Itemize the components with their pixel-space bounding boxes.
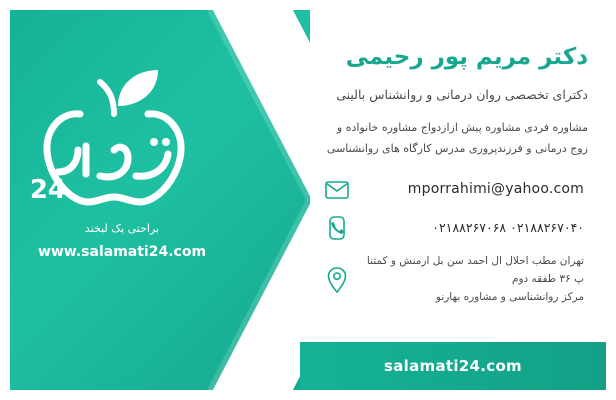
address-line-2: مرکز روانشناسی و مشاوره بهارنو (436, 291, 584, 303)
address-line-1: تهران مطب احلال ال احمد سن بل ارمنش و کم… (367, 255, 584, 285)
logo-tagline: براحتی یک لبخند (22, 222, 222, 235)
contact-content: دکتر مریم پور رحیمی دکترای تخصصی روان در… (310, 10, 606, 342)
doctor-services: مشاوره فردی مشاوره پیش ازازدواج مشاوره خ… (324, 118, 588, 159)
footer-website[interactable]: salamati24.com (384, 357, 522, 375)
business-card: 24 براحتی یک لبخند www.salamati24.com دک… (0, 0, 616, 400)
address-value: تهران مطب احلال ال احمد سن بل ارمنش و کم… (360, 253, 588, 307)
contact-row-phone[interactable]: ۰۲۱۸۸۲۶۷۰۴۰ ۰۲۱۸۸۲۶۷۰۶۸ (324, 215, 588, 241)
location-pin-icon (324, 267, 350, 293)
services-line-1: مشاوره فردی مشاوره پیش ازازدواج مشاوره خ… (324, 118, 588, 138)
logo-website[interactable]: www.salamati24.com (22, 244, 222, 260)
doctor-specialty: دکترای تخصصی روان درمانی و روانشناس بالی… (324, 86, 588, 105)
doctor-name: دکتر مریم پور رحیمی (324, 44, 588, 72)
envelope-icon (324, 177, 350, 203)
contact-row-email[interactable]: mporrahimi@yahoo.com (324, 177, 588, 203)
card-inner: 24 براحتی یک لبخند www.salamati24.com دک… (10, 10, 606, 390)
phone-icon (324, 215, 350, 241)
apple-leaf-logo-icon: 24 (22, 54, 222, 224)
logo: 24 براحتی یک لبخند www.salamati24.com (22, 54, 222, 284)
contact-row-address: تهران مطب احلال ال احمد سن بل ارمنش و کم… (324, 253, 588, 307)
footer-bar: salamati24.com (300, 342, 606, 390)
left-brand-panel: 24 براحتی یک لبخند www.salamati24.com (10, 10, 310, 390)
phone-value[interactable]: ۰۲۱۸۸۲۶۷۰۴۰ ۰۲۱۸۸۲۶۷۰۶۸ (360, 218, 588, 237)
contact-list: mporrahimi@yahoo.com ۰۲۱۸۸۲۶۷۰۴۰ ۰۲۱۸۸۲۶… (324, 177, 588, 307)
services-line-2: زوج درمانی و فرزندپروری مدرس کارگاه های … (324, 139, 588, 159)
logo-badge-number: 24 (30, 175, 66, 205)
email-value[interactable]: mporrahimi@yahoo.com (360, 179, 588, 201)
